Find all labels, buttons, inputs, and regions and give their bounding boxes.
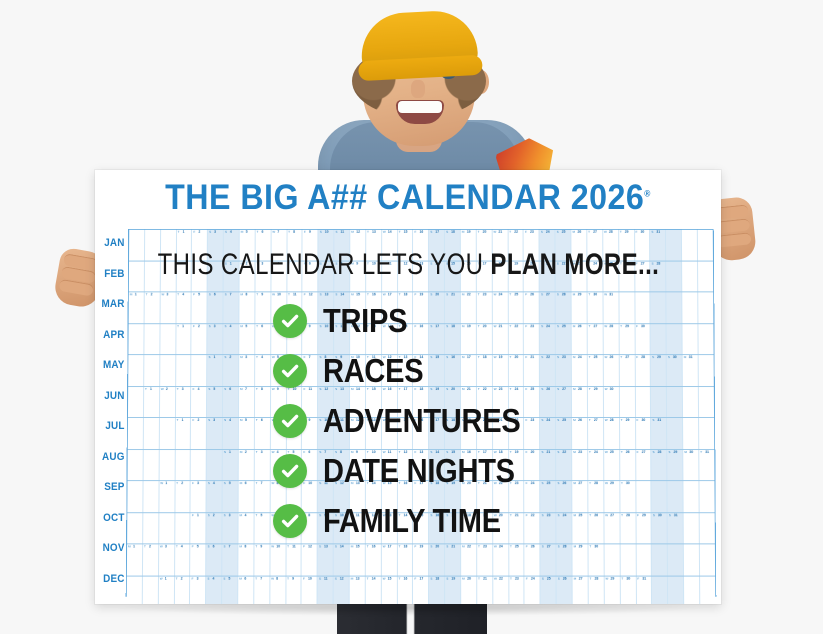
day-cell[interactable]: T23 — [509, 576, 525, 604]
day-cell[interactable]: T23 — [477, 544, 493, 575]
day-cell[interactable]: T30 — [620, 576, 636, 604]
benefit-label: ADVENTURES — [323, 402, 520, 440]
month-row: W1T2F3S4S5M6T7W8T9F10S11S12M13T14W15T16F… — [127, 576, 716, 604]
calendar-poster[interactable]: THE BIG A## CALENDAR 2026® JANFEBMARAPRM… — [95, 170, 721, 604]
check-circle-icon — [273, 304, 307, 338]
day-cell[interactable] — [684, 576, 700, 604]
day-cell[interactable]: F26 — [525, 544, 541, 575]
poster-title-text: THE BIG A## CALENDAR 2026 — [165, 178, 644, 217]
day-cell[interactable] — [143, 576, 159, 604]
benefit-label: RACES — [323, 352, 423, 390]
trademark-mark: ® — [644, 188, 651, 198]
benefit-item: FAMILY TIME — [273, 496, 721, 546]
day-cell[interactable] — [700, 544, 715, 575]
day-cell[interactable] — [636, 544, 652, 575]
day-cell[interactable]: T28 — [589, 576, 605, 604]
marketing-overlay: THIS CALENDAR LETS YOU PLAN MORE... TRIP… — [95, 248, 721, 546]
month-label-dec: DEC — [97, 564, 128, 595]
check-circle-icon — [273, 354, 307, 388]
benefit-item: TRIPS — [273, 296, 721, 346]
day-cell[interactable] — [700, 576, 715, 604]
day-cell[interactable]: S14 — [334, 544, 350, 575]
day-cell[interactable]: M29 — [573, 544, 589, 575]
day-cell[interactable]: T14 — [366, 576, 382, 604]
day-cell[interactable]: T18 — [398, 544, 414, 575]
yellow-beanie — [360, 9, 479, 73]
day-cell[interactable]: W1 — [159, 576, 175, 604]
day-cell[interactable]: S12 — [334, 576, 350, 604]
day-cell[interactable]: T7 — [254, 576, 270, 604]
day-cell[interactable]: T21 — [477, 576, 493, 604]
day-cell[interactable]: W15 — [382, 576, 398, 604]
day-cell[interactable]: F5 — [191, 544, 207, 575]
day-cell[interactable]: T25 — [509, 544, 525, 575]
month-row: M1T2W3T4F5S6S7M8T9W10T11F12S13S14M15T16W… — [127, 544, 715, 576]
teeth — [398, 101, 442, 113]
benefit-label: FAMILY TIME — [323, 502, 501, 540]
day-cell[interactable]: S27 — [541, 544, 557, 575]
day-cell[interactable]: M22 — [461, 544, 477, 575]
day-cell[interactable] — [127, 576, 143, 604]
day-cell[interactable]: M8 — [238, 544, 254, 575]
headline-light: THIS CALENDAR LETS YOU — [158, 248, 491, 281]
day-cell[interactable]: W17 — [382, 544, 398, 575]
day-cell[interactable] — [652, 576, 668, 604]
day-cell[interactable]: S6 — [206, 544, 222, 575]
day-cell[interactable]: F17 — [413, 576, 429, 604]
day-cell[interactable]: T9 — [254, 544, 270, 575]
day-cell[interactable]: T16 — [366, 544, 382, 575]
day-cell[interactable]: F12 — [302, 544, 318, 575]
scene: THE BIG A## CALENDAR 2026® JANFEBMARAPRM… — [0, 0, 823, 634]
day-cell[interactable]: F10 — [302, 576, 318, 604]
day-cell[interactable]: W22 — [493, 576, 509, 604]
day-cell[interactable]: W29 — [604, 576, 620, 604]
day-cell[interactable]: F3 — [190, 576, 206, 604]
day-cell[interactable]: S13 — [318, 544, 334, 575]
day-cell[interactable]: T11 — [286, 544, 302, 575]
benefit-label: DATE NIGHTS — [323, 452, 515, 490]
day-cell[interactable]: W10 — [270, 544, 286, 575]
day-cell[interactable]: S18 — [429, 576, 445, 604]
benefit-list: TRIPSRACESADVENTURESDATE NIGHTSFAMILY TI… — [95, 296, 721, 546]
day-cell[interactable]: S5 — [222, 576, 238, 604]
benefit-item: ADVENTURES — [273, 396, 721, 446]
day-cell[interactable]: S26 — [557, 576, 573, 604]
check-circle-icon — [273, 404, 307, 438]
day-cell[interactable] — [668, 576, 684, 604]
check-circle-icon — [273, 504, 307, 538]
day-cell[interactable]: T2 — [143, 544, 159, 575]
day-cell[interactable]: T2 — [174, 576, 190, 604]
day-cell[interactable]: M6 — [238, 576, 254, 604]
headline-heavy: PLAN MORE... — [490, 248, 659, 281]
day-cell[interactable]: S11 — [318, 576, 334, 604]
day-cell[interactable]: S7 — [222, 544, 238, 575]
day-cell[interactable]: T4 — [175, 544, 191, 575]
day-cell[interactable] — [668, 544, 684, 575]
day-cell[interactable]: F19 — [413, 544, 429, 575]
day-cell[interactable]: S4 — [206, 576, 222, 604]
day-cell[interactable]: W8 — [270, 576, 286, 604]
check-circle-icon — [273, 454, 307, 488]
day-cell[interactable]: M13 — [350, 576, 366, 604]
day-cell[interactable]: M1 — [127, 544, 143, 575]
day-cell[interactable] — [684, 544, 700, 575]
nose — [411, 80, 425, 98]
day-cell[interactable]: W3 — [159, 544, 175, 575]
day-cell[interactable]: T16 — [398, 576, 414, 604]
day-cell[interactable]: F31 — [636, 576, 652, 604]
day-cell[interactable] — [620, 544, 636, 575]
day-cell[interactable]: F24 — [525, 576, 541, 604]
day-cell[interactable] — [652, 544, 668, 575]
day-cell[interactable]: T9 — [286, 576, 302, 604]
headline: THIS CALENDAR LETS YOU PLAN MORE... — [158, 248, 659, 282]
poster-title: THE BIG A## CALENDAR 2026® — [120, 178, 696, 218]
day-cell[interactable]: M27 — [573, 576, 589, 604]
day-cell[interactable]: M20 — [461, 576, 477, 604]
day-cell[interactable]: S28 — [557, 544, 573, 575]
benefit-item: DATE NIGHTS — [273, 446, 721, 496]
day-cell[interactable]: S21 — [445, 544, 461, 575]
day-cell[interactable]: S25 — [541, 576, 557, 604]
day-cell[interactable]: M15 — [350, 544, 366, 575]
benefit-item: RACES — [273, 346, 721, 396]
day-cell[interactable]: W24 — [493, 544, 509, 575]
benefit-label: TRIPS — [323, 302, 407, 340]
day-cell[interactable]: S19 — [445, 576, 461, 604]
day-cell[interactable] — [604, 544, 620, 575]
day-cell[interactable]: T30 — [588, 544, 604, 575]
day-cell[interactable]: S20 — [429, 544, 445, 575]
